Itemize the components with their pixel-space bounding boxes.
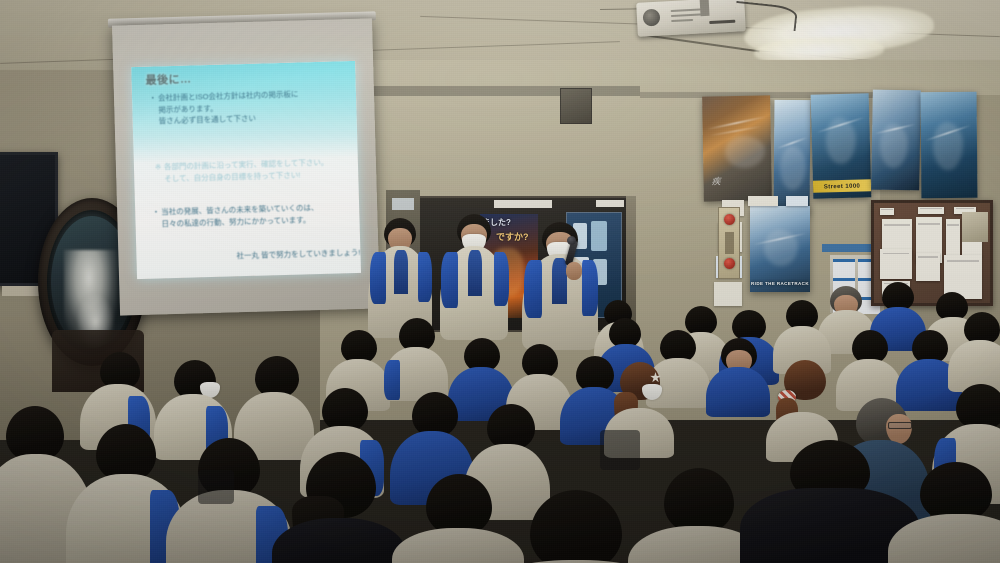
audience-person-front-center	[506, 490, 646, 563]
audience-person	[840, 330, 898, 402]
ceiling-projector	[636, 0, 746, 37]
bullet-marker: ・	[152, 206, 160, 218]
poster-street-1000: Street 1000	[811, 93, 872, 198]
uniform	[392, 528, 524, 563]
fire-alarm-button[interactable]	[724, 214, 735, 225]
jacket-collar	[394, 250, 408, 294]
slide-closing-line: 社一丸 皆で努力をしていきましょう!	[210, 247, 360, 263]
head	[530, 490, 622, 563]
projection-screen-assembly: 最後に… ・ 会社計画とISO会社方針は社内の掲示板に 掲示があります。 皆さん…	[112, 18, 380, 315]
uniform	[888, 514, 1000, 563]
poster-warm-vehicle: 疾	[702, 95, 772, 201]
jacket-blue-panel	[441, 252, 458, 308]
notice[interactable]	[916, 253, 940, 281]
projected-slide: 最後に… ・ 会社計画とISO会社方針は社内の掲示板に 掲示があります。 皆さん…	[131, 61, 361, 279]
cabinet-label	[596, 200, 624, 207]
cabinet-label	[494, 200, 552, 208]
notice[interactable]	[880, 249, 912, 279]
head	[920, 462, 992, 522]
audience-person-front	[78, 424, 174, 563]
microphone-head	[567, 236, 576, 245]
slide-bullet-2: ※ 各部門の計画に沿って実行、確認をして下さい。 そして、自分自身の目標を持って…	[164, 156, 355, 185]
audience-person	[952, 312, 1000, 384]
notice[interactable]	[918, 207, 944, 214]
wall-box	[962, 212, 988, 242]
door-sign	[392, 198, 414, 210]
audience-person-front-navy	[754, 440, 904, 563]
notice[interactable]	[880, 208, 894, 215]
hand	[566, 262, 582, 280]
audience-person	[776, 300, 828, 366]
bullet-marker: ・	[149, 92, 157, 104]
audience-person-front	[404, 474, 512, 563]
uniform	[706, 367, 770, 417]
head	[426, 474, 492, 536]
poster-steel-rider	[921, 92, 978, 198]
jacket-blue-panel	[494, 252, 509, 306]
bullet-marker: ※	[155, 161, 162, 173]
poster-caption: RIDE THE RACETRACK	[750, 281, 810, 286]
fire-alarm-panel[interactable]	[718, 207, 740, 279]
fire-alarm-button[interactable]	[724, 258, 735, 269]
jacket-blue-panel	[370, 252, 386, 304]
wall-notice	[714, 282, 742, 306]
audience-person-front	[898, 462, 1000, 563]
presenter-left	[372, 218, 428, 334]
projector-mount	[699, 0, 709, 16]
eyeglasses	[888, 422, 912, 429]
projector-lens	[643, 9, 661, 27]
audience-person	[388, 318, 444, 392]
meeting-room-photo: 疾 Street 1000 RIDE THE RACETRACK	[0, 0, 1000, 563]
face-mask	[642, 384, 662, 400]
leaflet[interactable]	[833, 259, 855, 278]
audience-person-long-hair	[282, 452, 398, 563]
slide-bullet-1: ・ 会社計画とISO会社方針は社内の掲示板に 掲示があります。 皆さん必ず目を通…	[158, 87, 349, 127]
head	[664, 468, 734, 534]
presenter-middle	[444, 214, 504, 336]
audience-person-front	[640, 468, 754, 563]
chair-back	[198, 470, 234, 504]
presenter-right	[528, 222, 594, 346]
jacket-blue-panel	[418, 252, 432, 302]
ride-the-racetrack-poster: RIDE THE RACETRACK	[750, 206, 810, 292]
jacket-collar	[552, 258, 567, 304]
wall-notice	[748, 196, 778, 206]
wall-speaker	[560, 88, 592, 124]
audience-person	[710, 338, 766, 408]
slide-bullet-3: ・ 当社の発展、皆さんの未来を築いていくのは、 日々の私達の行動、努力にかかって…	[161, 201, 352, 230]
slide-title: 最後に…	[145, 70, 191, 87]
jacket-collar	[468, 250, 482, 296]
poster-blue-rider	[871, 90, 921, 191]
wall-notice	[786, 196, 808, 206]
chair-back	[600, 430, 640, 470]
jacket-blue-panel	[524, 260, 542, 318]
poster-signature: 疾	[711, 174, 720, 187]
